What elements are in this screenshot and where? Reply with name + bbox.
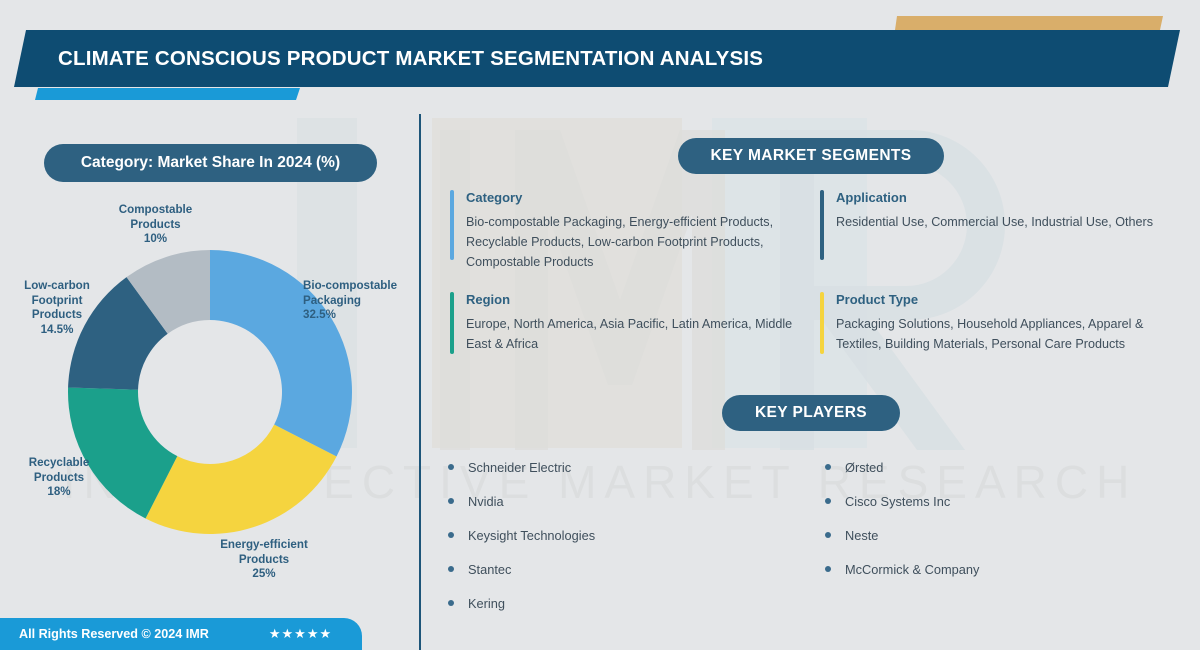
footer-bar: All Rights Reserved © 2024 IMR ★★★★★ (0, 618, 362, 650)
list-item: Stantec (448, 552, 788, 586)
star-rating-icon: ★★★★★ (269, 626, 332, 642)
player-name: Kering (468, 596, 505, 611)
player-name: Ørsted (845, 460, 883, 475)
bullet-icon (448, 464, 454, 470)
slice-label-bio-compostable-packaging: Bio-compostable Packaging 32.5% (303, 279, 411, 323)
player-name: Stantec (468, 562, 511, 577)
bullet-icon (825, 532, 831, 538)
key-market-segments-heading: KEY MARKET SEGMENTS (678, 138, 944, 174)
segment-body: Residential Use, Commercial Use, Industr… (836, 212, 1180, 232)
bullet-icon (448, 600, 454, 606)
segment-block-region: Region Europe, North America, Asia Pacif… (450, 292, 810, 354)
slice-label-compostable-products: Compostable Products 10% (98, 203, 213, 247)
page-title: CLIMATE CONSCIOUS PRODUCT MARKET SEGMENT… (58, 47, 763, 71)
player-name: Schneider Electric (468, 460, 571, 475)
segment-accent-bar (820, 190, 824, 260)
segment-title: Category (466, 190, 810, 205)
list-item: Keysight Technologies (448, 518, 788, 552)
segment-accent-bar (450, 292, 454, 354)
list-item: Kering (448, 586, 788, 620)
list-item: McCormick & Company (825, 552, 1165, 586)
header-gold-accent (895, 16, 1163, 30)
segment-body: Bio-compostable Packaging, Energy-effici… (466, 212, 810, 272)
slice-label-low-carbon-footprint-products: Low-carbon Footprint Products 14.5% (4, 279, 110, 337)
infographic-page: INTROSPECTIVE MARKET RESEARCH CLIMATE CO… (0, 0, 1200, 650)
player-name: Nvidia (468, 494, 504, 509)
list-item: Cisco Systems Inc (825, 484, 1165, 518)
list-item: Neste (825, 518, 1165, 552)
slice-label-energy-efficient-products: Energy-efficient Products 25% (196, 538, 332, 582)
segment-accent-bar (820, 292, 824, 354)
key-players-heading: KEY PLAYERS (722, 395, 900, 431)
segment-body: Packaging Solutions, Household Appliance… (836, 314, 1190, 354)
copyright-text: All Rights Reserved © 2024 IMR (19, 627, 209, 641)
header-cyan-accent (35, 88, 300, 100)
segment-title: Region (466, 292, 810, 307)
segment-accent-bar (450, 190, 454, 260)
bullet-icon (448, 498, 454, 504)
vertical-divider (419, 114, 421, 650)
bullet-icon (825, 566, 831, 572)
segment-body: Europe, North America, Asia Pacific, Lat… (466, 314, 810, 354)
watermark-band (432, 118, 682, 448)
bullet-icon (825, 498, 831, 504)
list-item: Ørsted (825, 450, 1165, 484)
key-players-list-right: ØrstedCisco Systems IncNesteMcCormick & … (825, 450, 1165, 586)
segment-block-product-type: Product Type Packaging Solutions, Househ… (820, 292, 1190, 354)
player-name: McCormick & Company (845, 562, 979, 577)
key-players-list-left: Schneider ElectricNvidiaKeysight Technol… (448, 450, 788, 620)
header-bar: CLIMATE CONSCIOUS PRODUCT MARKET SEGMENT… (14, 30, 1180, 87)
slice-label-recyclable-products: Recyclable Products 18% (6, 456, 112, 500)
bullet-icon (825, 464, 831, 470)
chart-title-badge: Category: Market Share In 2024 (%) (44, 144, 377, 182)
segment-title: Application (836, 190, 1180, 205)
bullet-icon (448, 566, 454, 572)
player-name: Keysight Technologies (468, 528, 595, 543)
segment-block-application: Application Residential Use, Commercial … (820, 190, 1180, 260)
player-name: Cisco Systems Inc (845, 494, 950, 509)
segment-title: Product Type (836, 292, 1190, 307)
list-item: Schneider Electric (448, 450, 788, 484)
segment-block-category: Category Bio-compostable Packaging, Ener… (450, 190, 810, 260)
list-item: Nvidia (448, 484, 788, 518)
player-name: Neste (845, 528, 878, 543)
bullet-icon (448, 532, 454, 538)
